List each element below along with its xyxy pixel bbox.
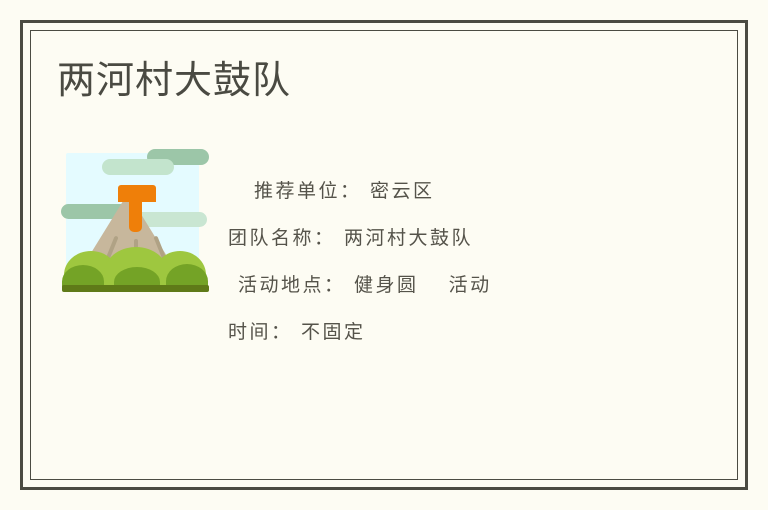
- detail-line-team-name: 团队名称： 两河村大鼓队: [228, 215, 618, 262]
- page-root: 两河村大鼓队 推荐单位： 密云区 团队名称： 两河村大鼓队 活动地点： 健身圆 …: [0, 0, 768, 510]
- ground-strip: [62, 285, 209, 292]
- detail-line-activity-location: 活动地点： 健身圆 活动: [228, 262, 618, 309]
- detail-line-activity-time: 时间： 不固定: [228, 309, 618, 356]
- team-details: 推荐单位： 密云区 团队名称： 两河村大鼓队 活动地点： 健身圆 活动 时间： …: [228, 168, 618, 356]
- page-title: 两河村大鼓队: [57, 56, 291, 104]
- lava-flow-icon: [129, 197, 142, 232]
- detail-line-recommending-unit: 推荐单位： 密云区: [228, 168, 618, 215]
- cloud-icon: [102, 159, 174, 175]
- volcano-illustration: [62, 147, 210, 297]
